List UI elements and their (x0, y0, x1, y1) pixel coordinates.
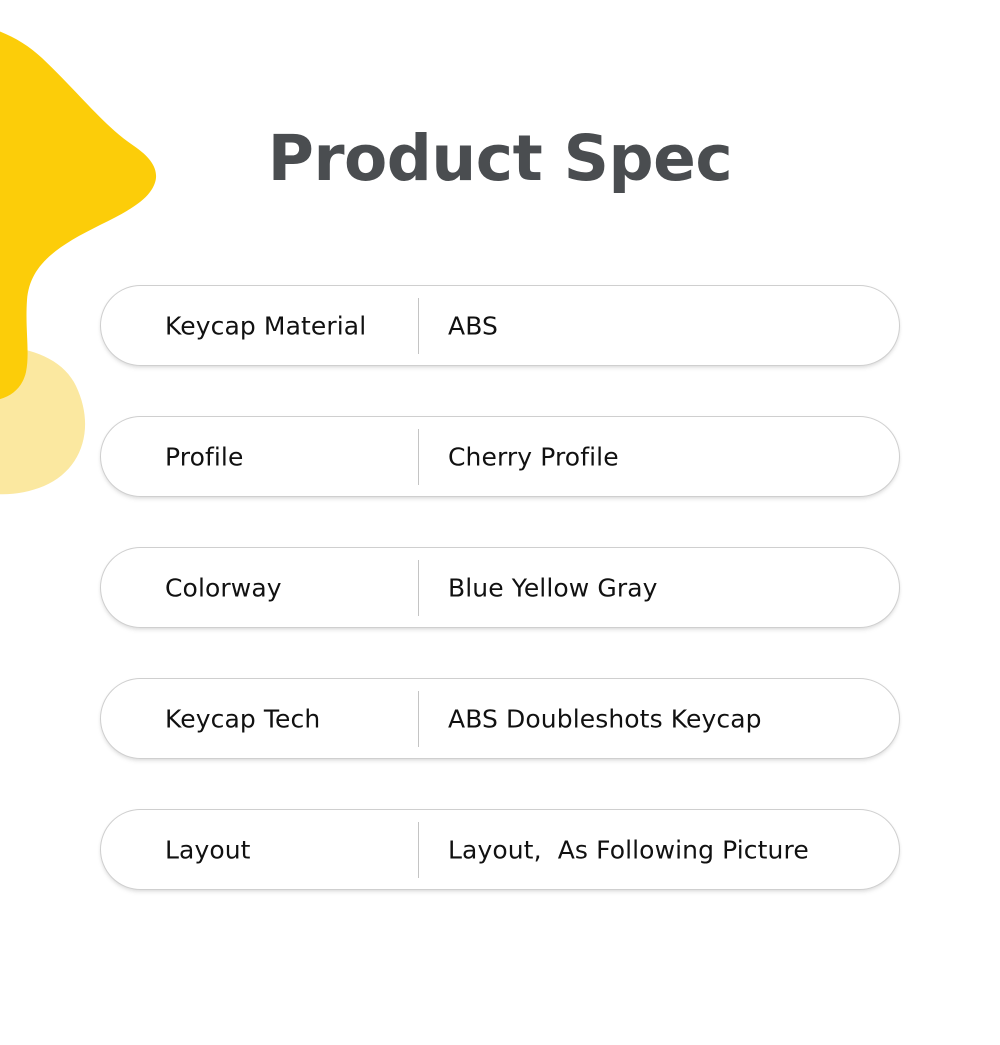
spec-label: Keycap Tech (165, 704, 320, 733)
spec-label: Profile (165, 442, 243, 471)
page-title: Product Spec (0, 127, 1000, 190)
spec-divider (418, 298, 419, 354)
spec-row: Keycap Material ABS (100, 285, 900, 366)
spec-row: Colorway Blue Yellow Gray (100, 547, 900, 628)
spec-value: Layout, As Following Picture (448, 835, 809, 864)
spec-value: ABS Doubleshots Keycap (448, 704, 762, 733)
spec-label: Layout (165, 835, 251, 864)
spec-value: ABS (448, 311, 498, 340)
spec-row: Keycap Tech ABS Doubleshots Keycap (100, 678, 900, 759)
product-spec-page: Product Spec Keycap Material ABS Profile… (0, 0, 1000, 1045)
spec-value: Blue Yellow Gray (448, 573, 658, 602)
spec-row: Profile Cherry Profile (100, 416, 900, 497)
spec-divider (418, 429, 419, 485)
spec-label: Colorway (165, 573, 282, 602)
spec-divider (418, 822, 419, 878)
spec-divider (418, 691, 419, 747)
pale-yellow-blob (0, 346, 85, 494)
spec-table: Keycap Material ABS Profile Cherry Profi… (100, 285, 900, 940)
spec-divider (418, 560, 419, 616)
spec-row: Layout Layout, As Following Picture (100, 809, 900, 890)
spec-label: Keycap Material (165, 311, 366, 340)
spec-value: Cherry Profile (448, 442, 619, 471)
